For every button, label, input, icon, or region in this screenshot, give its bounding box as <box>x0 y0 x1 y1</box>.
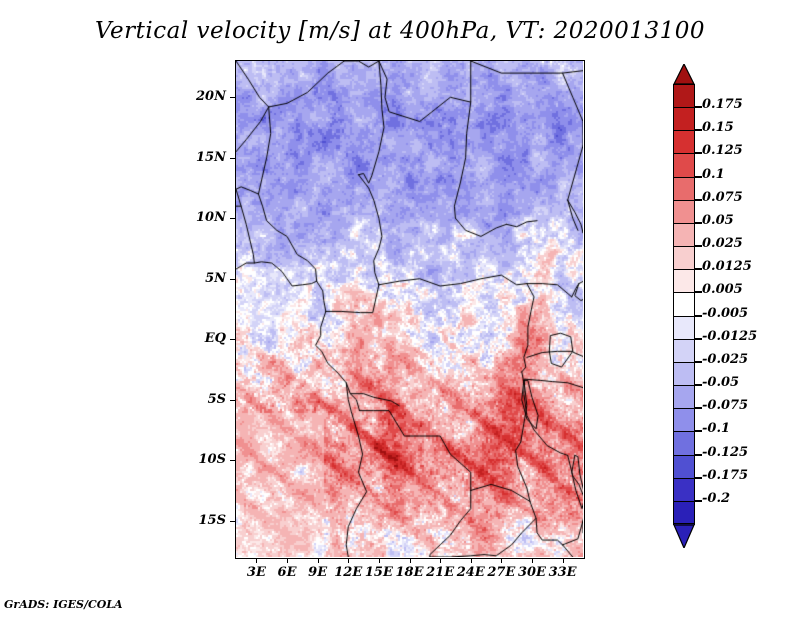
lat-tick-mark <box>230 339 235 340</box>
colorbar-tick-label: -0.2 <box>702 491 730 506</box>
colorbar-band <box>673 478 695 502</box>
colorbar-min-arrow-icon <box>673 524 695 548</box>
colorbar-tick-mark <box>695 407 702 409</box>
colorbar-band <box>673 246 695 270</box>
lat-tick-mark <box>230 158 235 159</box>
colorbar-divider <box>673 107 695 108</box>
colorbar-band <box>673 408 695 432</box>
colorbar-band <box>673 339 695 363</box>
colorbar-divider <box>673 316 695 317</box>
lon-tick-mark <box>440 558 441 563</box>
page-title: Vertical velocity [m/s] at 400hPa, VT: 2… <box>0 18 800 44</box>
lat-tick-mark <box>230 97 235 98</box>
lat-tick-mark <box>230 400 235 401</box>
colorbar-divider <box>673 478 695 479</box>
lat-tick-mark <box>230 460 235 461</box>
colorbar-divider <box>673 385 695 386</box>
lat-tick-label: EQ <box>182 331 226 346</box>
colorbar-tick-mark <box>695 176 702 178</box>
colorbar-tick-mark <box>695 106 702 108</box>
colorbar-tick-label: 0.075 <box>702 190 743 205</box>
colorbar-band <box>673 130 695 154</box>
colorbar-divider <box>673 84 695 85</box>
colorbar-tick-mark <box>695 291 702 293</box>
colorbar-band <box>673 84 695 108</box>
colorbar-tick-label: 0.05 <box>702 213 734 228</box>
colorbar-tick-label: 0.15 <box>702 120 734 135</box>
lon-tick-mark <box>471 558 472 563</box>
colorbar-tick-label: -0.025 <box>702 352 748 367</box>
colorbar-divider <box>673 177 695 178</box>
colorbar-tick-label: 0.175 <box>702 97 743 112</box>
lat-tick-label: 20N <box>182 89 226 104</box>
colorbar-divider <box>673 246 695 247</box>
colorbar-tick-mark <box>695 430 702 432</box>
colorbar-tick-label: 0.0125 <box>702 259 752 274</box>
colorbar-divider <box>673 501 695 502</box>
colorbar-tick-mark <box>695 245 702 247</box>
lat-tick-mark <box>230 279 235 280</box>
colorbar-tick-label: -0.125 <box>702 445 748 460</box>
colorbar-tick-mark <box>695 477 702 479</box>
colorbar-divider <box>673 431 695 432</box>
colorbar-divider <box>673 408 695 409</box>
colorbar-tick-mark <box>695 384 702 386</box>
colorbar-divider <box>673 223 695 224</box>
colorbar-band <box>673 177 695 201</box>
lon-tick-mark <box>501 558 502 563</box>
lon-tick-mark <box>532 558 533 563</box>
colorbar-tick-mark <box>695 315 702 317</box>
colorbar-tick-mark <box>695 500 702 502</box>
colorbar-divider <box>673 130 695 131</box>
colorbar-tick-label: 0.125 <box>702 143 743 158</box>
lat-tick-label: 10S <box>182 452 226 467</box>
colorbar-tick-label: -0.0125 <box>702 329 757 344</box>
lat-tick-label: 5S <box>182 392 226 407</box>
colorbar-band <box>673 153 695 177</box>
colorbar <box>673 84 695 524</box>
colorbar-divider <box>673 153 695 154</box>
lon-tick-mark <box>348 558 349 563</box>
colorbar-band <box>673 501 695 525</box>
colorbar-tick-label: -0.1 <box>702 421 730 436</box>
colorbar-tick-mark <box>695 129 702 131</box>
colorbar-tick-mark <box>695 152 702 154</box>
colorbar-tick-label: 0.1 <box>702 167 725 182</box>
lat-tick-label: 5N <box>182 271 226 286</box>
colorbar-band <box>673 269 695 293</box>
lat-tick-label: 15N <box>182 150 226 165</box>
colorbar-divider <box>673 292 695 293</box>
vertical-velocity-heatmap <box>236 61 583 557</box>
colorbar-band <box>673 385 695 409</box>
colorbar-tick-mark <box>695 454 702 456</box>
colorbar-divider <box>673 269 695 270</box>
lon-tick-mark <box>256 558 257 563</box>
colorbar-band <box>673 200 695 224</box>
colorbar-band <box>673 223 695 247</box>
colorbar-tick-mark <box>695 338 702 340</box>
lat-tick-label: 15S <box>182 513 226 528</box>
lon-tick-mark <box>287 558 288 563</box>
lon-tick-mark <box>379 558 380 563</box>
colorbar-tick-mark <box>695 222 702 224</box>
colorbar-band <box>673 107 695 131</box>
colorbar-tick-mark <box>695 268 702 270</box>
colorbar-band <box>673 292 695 316</box>
colorbar-tick-label: 0.005 <box>702 282 743 297</box>
lat-tick-mark <box>230 218 235 219</box>
colorbar-tick-label: -0.075 <box>702 398 748 413</box>
colorbar-divider <box>673 455 695 456</box>
colorbar-divider <box>673 200 695 201</box>
lon-tick-label: 33E <box>543 565 583 580</box>
colorbar-band <box>673 455 695 479</box>
colorbar-tick-mark <box>695 361 702 363</box>
colorbar-tick-label: 0.025 <box>702 236 743 251</box>
lat-tick-label: 10N <box>182 210 226 225</box>
lat-tick-mark <box>230 521 235 522</box>
lon-tick-mark <box>410 558 411 563</box>
colorbar-tick-label: -0.05 <box>702 375 739 390</box>
colorbar-divider <box>673 339 695 340</box>
colorbar-band <box>673 362 695 386</box>
footer-credit: GrADS: IGES/COLA <box>4 598 123 611</box>
lon-tick-mark <box>318 558 319 563</box>
colorbar-tick-label: -0.175 <box>702 468 748 483</box>
colorbar-tick-mark <box>695 199 702 201</box>
colorbar-max-arrow-icon <box>673 64 695 84</box>
colorbar-divider <box>673 362 695 363</box>
colorbar-band <box>673 316 695 340</box>
colorbar-band <box>673 431 695 455</box>
lon-tick-mark <box>563 558 564 563</box>
colorbar-tick-label: -0.005 <box>702 306 748 321</box>
